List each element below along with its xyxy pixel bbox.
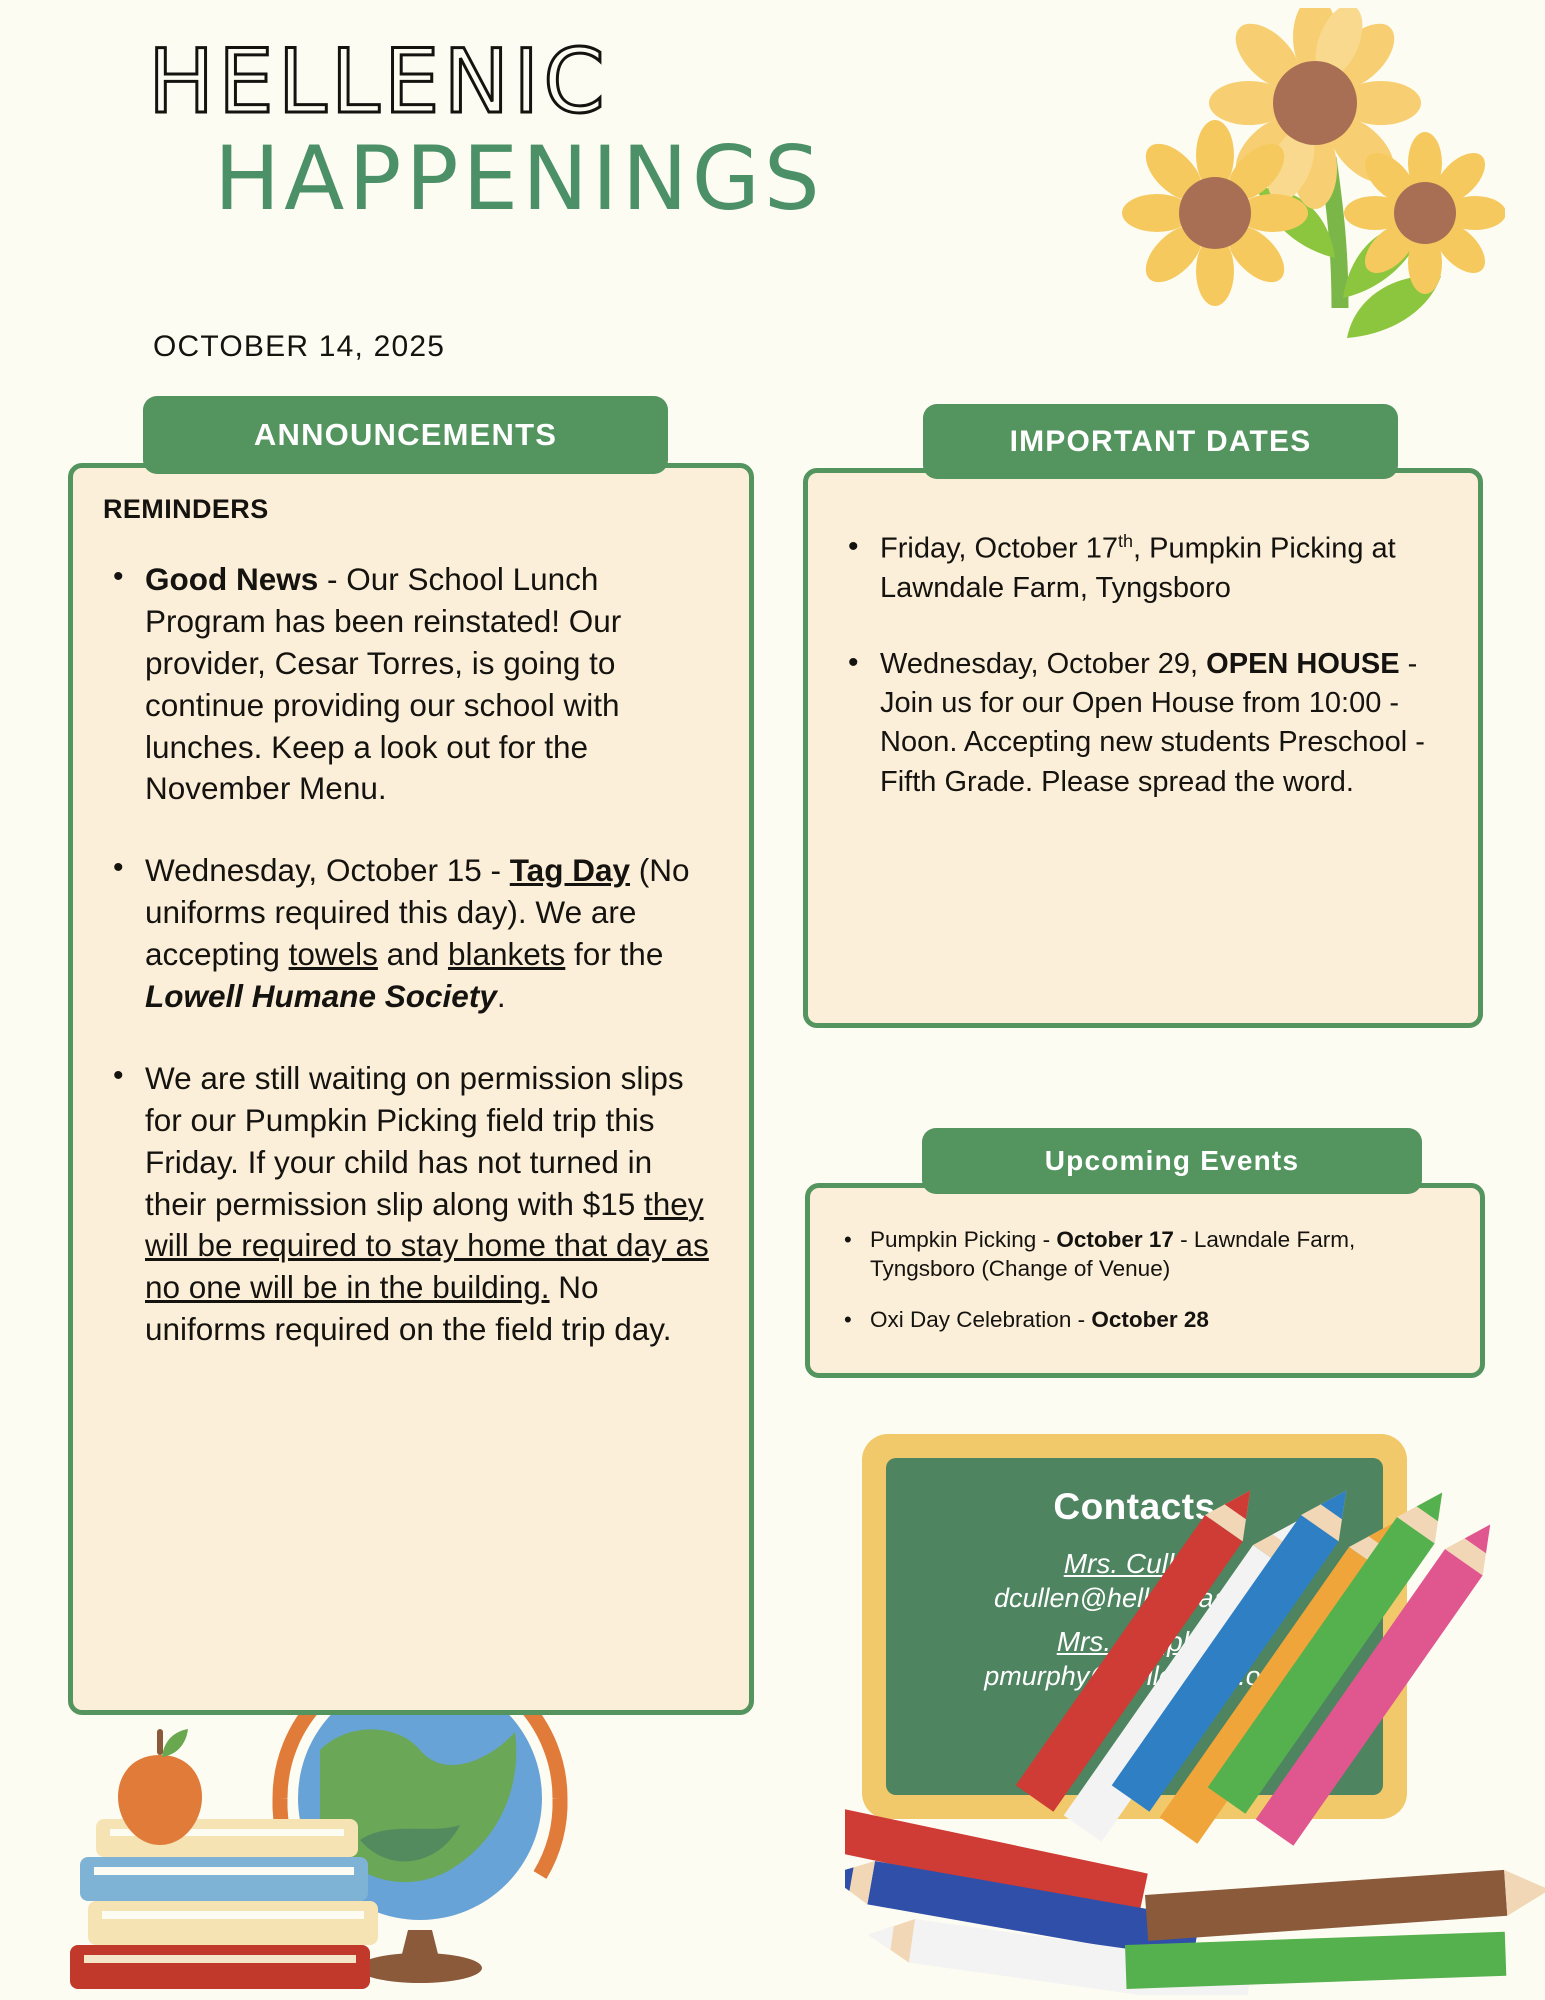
contacts-chalkboard: Contacts Mrs. Cullen dcullen@hellenicaa.… bbox=[886, 1458, 1383, 1795]
tag-day-mid2: and bbox=[378, 936, 448, 972]
towels-label: towels bbox=[289, 936, 378, 972]
contacts-chalkboard-frame: Contacts Mrs. Cullen dcullen@hellenicaa.… bbox=[862, 1434, 1407, 1819]
contact-email-murphy[interactable]: pmurphy@hellenicaa.org bbox=[984, 1659, 1285, 1694]
good-news-text: - Our School Lunch Program has been rein… bbox=[145, 561, 621, 806]
blankets-label: blankets bbox=[448, 936, 565, 972]
list-item: We are still waiting on permission slips… bbox=[103, 1058, 719, 1351]
issue-date: OCTOBER 14, 2025 bbox=[153, 330, 445, 364]
title-line-1: HELLENIC bbox=[148, 38, 968, 126]
contact-email-cullen[interactable]: dcullen@hellenicaa.org bbox=[994, 1581, 1275, 1616]
contacts-title: Contacts bbox=[1053, 1486, 1215, 1528]
list-item: Wednesday, October 15 - Tag Day (No unif… bbox=[103, 850, 719, 1018]
list-item: Wednesday, October 29, OPEN HOUSE - Join… bbox=[838, 645, 1444, 803]
event-2-date: October 28 bbox=[1091, 1307, 1209, 1332]
date-1-ordinal: th bbox=[1118, 531, 1133, 551]
tag-day-suffix: . bbox=[497, 978, 506, 1014]
announcements-panel: REMINDERS Good News - Our School Lunch P… bbox=[68, 463, 754, 1715]
event-1-prefix: Pumpkin Picking - bbox=[870, 1227, 1056, 1252]
tag-day-mid3: for the bbox=[565, 936, 663, 972]
list-item: Pumpkin Picking - October 17 - Lawndale … bbox=[836, 1226, 1454, 1284]
date-1-prefix: Friday, October 17 bbox=[880, 533, 1118, 565]
newsletter-page: HELLENIC HAPPENINGS OCTOBER 14, 2025 REM… bbox=[0, 0, 1545, 2000]
list-item: Oxi Day Celebration - October 28 bbox=[836, 1306, 1454, 1335]
contact-name-cullen: Mrs. Cullen bbox=[1064, 1546, 1206, 1581]
event-2-prefix: Oxi Day Celebration - bbox=[870, 1307, 1091, 1332]
important-dates-list: Friday, October 17th, Pumpkin Picking at… bbox=[838, 529, 1444, 802]
contact-name-murphy: Mrs. Murphy bbox=[1057, 1624, 1213, 1659]
sunflowers-icon bbox=[1085, 8, 1505, 413]
list-item: Good News - Our School Lunch Program has… bbox=[103, 559, 719, 810]
upcoming-events-panel: Pumpkin Picking - October 17 - Lawndale … bbox=[805, 1183, 1485, 1378]
announcements-list: Good News - Our School Lunch Program has… bbox=[103, 559, 719, 1351]
upcoming-events-list: Pumpkin Picking - October 17 - Lawndale … bbox=[836, 1226, 1454, 1334]
important-dates-panel: Friday, October 17th, Pumpkin Picking at… bbox=[803, 468, 1483, 1028]
good-news-label: Good News bbox=[145, 561, 318, 597]
event-1-date: October 17 bbox=[1056, 1227, 1174, 1252]
date-2-prefix: Wednesday, October 29, bbox=[880, 648, 1206, 680]
tag-day-prefix: Wednesday, October 15 - bbox=[145, 852, 510, 888]
reminders-subheading: REMINDERS bbox=[103, 494, 719, 525]
upcoming-events-tab: Upcoming Events bbox=[922, 1128, 1422, 1194]
page-title: HELLENIC HAPPENINGS bbox=[148, 38, 968, 229]
permission-prefix: We are still waiting on permission slips… bbox=[145, 1060, 684, 1222]
title-line-2: HAPPENINGS bbox=[214, 130, 968, 229]
open-house-label: OPEN HOUSE bbox=[1206, 648, 1399, 680]
important-dates-tab: IMPORTANT DATES bbox=[923, 404, 1398, 479]
announcements-tab: ANNOUNCEMENTS bbox=[143, 396, 668, 474]
tag-day-label: Tag Day bbox=[510, 852, 630, 888]
humane-society-label: Lowell Humane Society bbox=[145, 978, 497, 1014]
list-item: Friday, October 17th, Pumpkin Picking at… bbox=[838, 529, 1444, 609]
